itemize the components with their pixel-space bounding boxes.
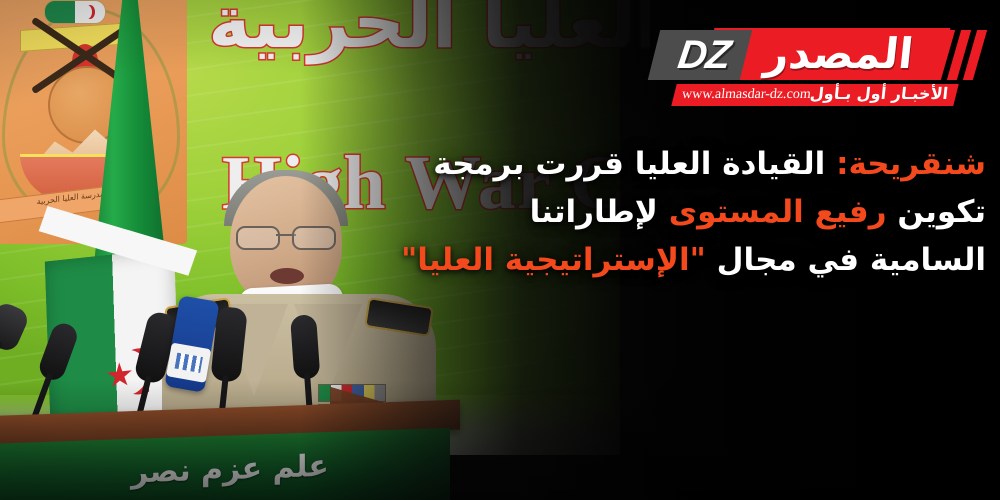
headline-accent-2: رفيع المستوى: [669, 194, 887, 230]
headline: شنقريحة: القيادة العليا قررت برمجة تكوين…: [386, 140, 986, 284]
logo-tagline-text: الأخبـار أول بـأول: [807, 83, 949, 105]
logo-url-text[interactable]: www.almasdar-dz.com: [681, 85, 812, 105]
news-card: العليا الحربية High War C المدرسة العليا…: [0, 0, 1000, 500]
headline-line-1: شنقريحة: القيادة العليا قررت برمجة: [386, 140, 986, 188]
headline-plain-2a: تكوين: [887, 194, 986, 230]
headline-accent-1: شنقريحة:: [836, 146, 986, 182]
headline-line-2: تكوين رفيع المستوى لإطاراتنا: [386, 188, 986, 236]
headline-line-3: السامية في مجال "الإستراتيجية العليا": [386, 236, 986, 284]
site-logo[interactable]: DZ المصدر www.almasdar-dz.com الأخبـار أ…: [638, 28, 990, 106]
headline-plain-2b: لإطاراتنا: [530, 194, 669, 230]
logo-arabic-name: المصدر: [731, 26, 947, 80]
logo-main-block: DZ المصدر: [638, 28, 990, 82]
headline-plain-3: السامية في مجال: [706, 242, 986, 278]
headline-plain-1: القيادة العليا قررت برمجة: [433, 146, 836, 182]
headline-accent-3: "الإستراتيجية العليا": [401, 242, 706, 278]
bottom-shade-overlay: [0, 380, 1000, 500]
